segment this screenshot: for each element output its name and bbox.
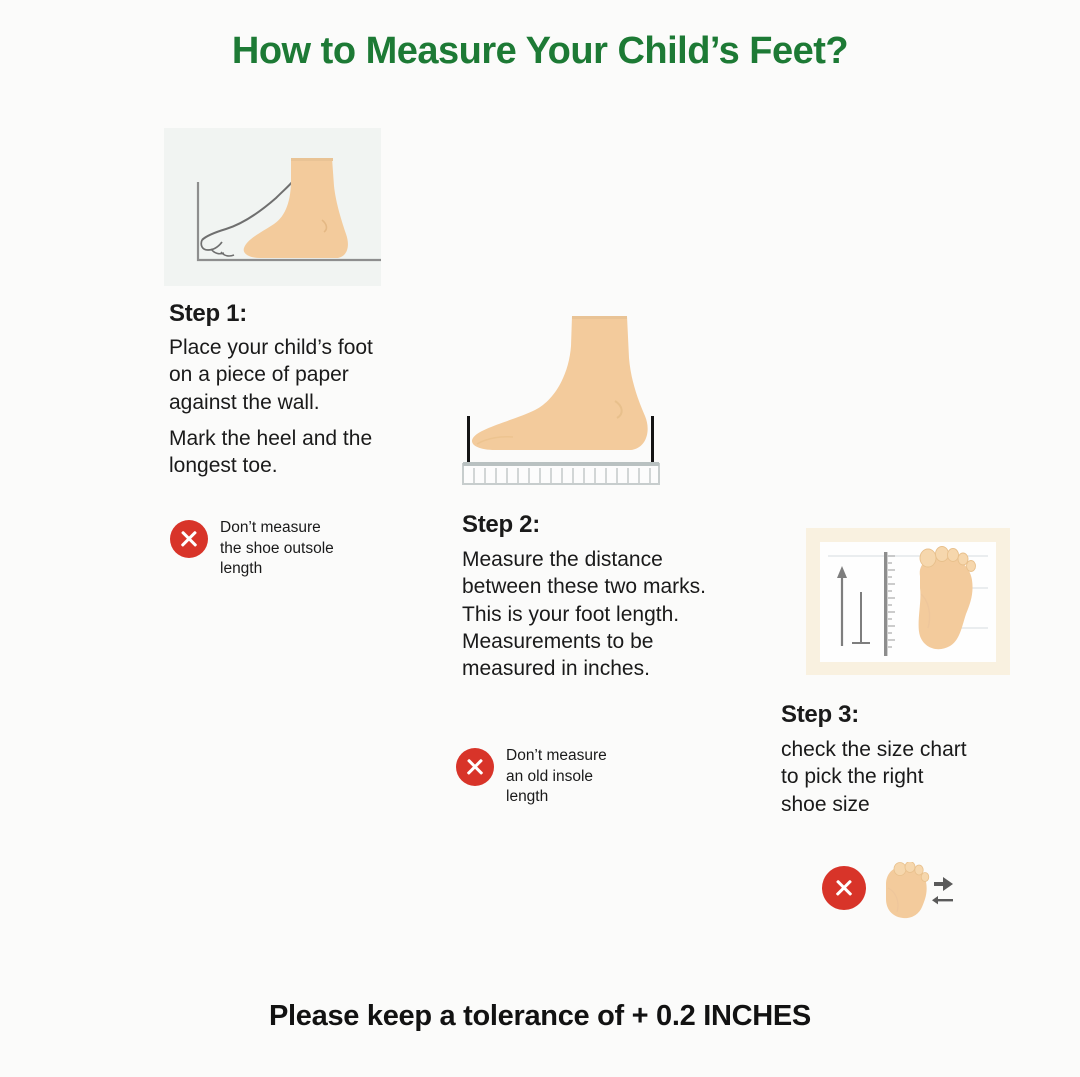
heel-mark: [651, 416, 654, 464]
foot-against-wall-illustration: [164, 128, 381, 286]
step-3-warning: [822, 864, 882, 910]
step-2-warning-line-2: an old insole: [506, 767, 607, 788]
foot-on-ruler-illustration: [455, 298, 685, 488]
step-3-warning-graphic: [878, 862, 956, 922]
step-3-heading: Step 3:: [781, 701, 859, 729]
step-2-warning-line-1: Don’t measure: [506, 746, 607, 767]
step-1-warning-line-1: Don’t measure: [220, 518, 334, 539]
arrow-right-icon: [934, 877, 953, 891]
step-2-line-3: This is your foot length.: [462, 601, 782, 628]
step-1-line-5: longest toe.: [169, 452, 409, 479]
step-2-heading: Step 2:: [462, 511, 540, 539]
step-3-line-1: check the size chart: [781, 736, 1021, 763]
step-1-description: Place your child’s foot on a piece of pa…: [169, 334, 409, 479]
step-1-warning-text: Don’t measure the shoe outsole length: [220, 518, 334, 580]
step-3-description: check the size chart to pick the right s…: [781, 736, 1021, 818]
step-2-warning-line-3: length: [506, 787, 607, 808]
step-2-warning-text: Don’t measure an old insole length: [506, 746, 607, 808]
step-2-warning: Don’t measure an old insole length: [456, 746, 686, 808]
arrow-left-icon: [932, 896, 953, 904]
foot-with-squeeze-arrows-icon: [878, 862, 956, 922]
step-3-illustration-panel: [806, 528, 1010, 675]
step-2-description: Measure the distance between these two m…: [462, 546, 782, 682]
step-1-line-1: Place your child’s foot: [169, 334, 409, 361]
red-x-circle-icon: [822, 866, 866, 910]
infographic-page: How to Measure Your Child’s Feet? Step 1…: [0, 0, 1080, 1077]
step-3-line-2: to pick the right: [781, 763, 1021, 790]
step-2-line-1: Measure the distance: [462, 546, 782, 573]
step-1-line-2: on a piece of paper: [169, 361, 409, 388]
red-x-circle-icon: [456, 748, 494, 786]
page-title: How to Measure Your Child’s Feet?: [0, 30, 1080, 73]
step-2-illustration: [455, 298, 685, 488]
tolerance-note: Please keep a tolerance of + 0.2 INCHES: [0, 1000, 1080, 1033]
step-1-warning-line-3: length: [220, 559, 334, 580]
step-2-line-4: Measurements to be: [462, 628, 782, 655]
step-2-line-5: measured in inches.: [462, 655, 782, 682]
red-x-circle-icon: [170, 520, 208, 558]
size-chart-card: [820, 542, 996, 662]
step-2-line-2: between these two marks.: [462, 573, 782, 600]
step-1-illustration-panel: [164, 128, 381, 286]
step-1-line-3: against the wall.: [169, 389, 409, 416]
short-measure-icon: [852, 592, 870, 643]
step-1-line-4: Mark the heel and the: [169, 425, 409, 452]
footprint-on-size-chart-illustration: [820, 542, 996, 662]
step-1-heading: Step 1:: [169, 300, 247, 328]
toe-mark: [467, 416, 470, 464]
step-1-warning: Don’t measure the shoe outsole length: [170, 518, 380, 580]
footprint-shape: [919, 546, 976, 649]
step-1-warning-line-2: the shoe outsole: [220, 539, 334, 560]
step-3-line-3: shoe size: [781, 791, 1021, 818]
